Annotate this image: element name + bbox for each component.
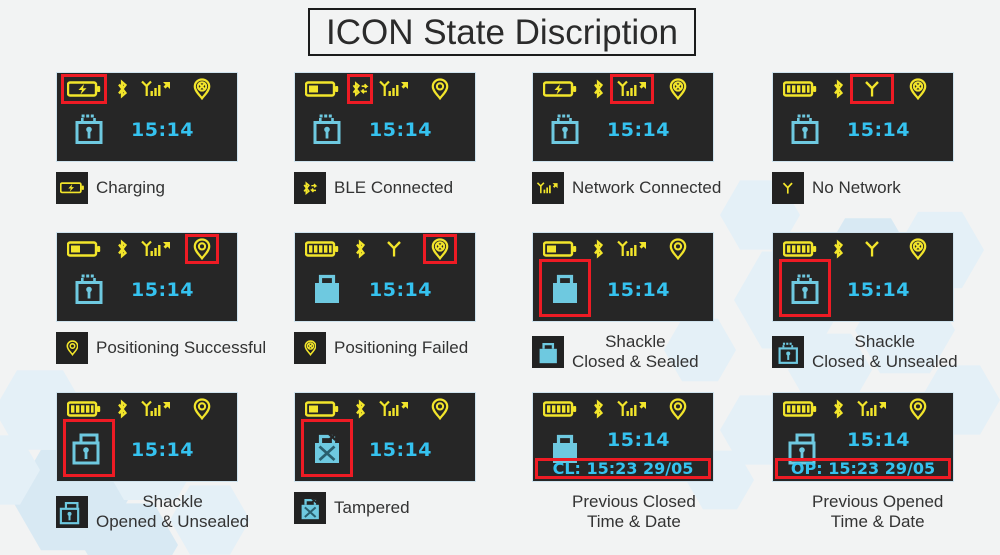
state-card-positioning-failed: 15:14 Positioning Failed: [294, 232, 544, 364]
device-screen-preview: 15:14: [56, 232, 238, 322]
battery-full-icon: [541, 398, 579, 420]
caption-row: ShackleClosed & Sealed: [532, 332, 782, 372]
location-ok-icon: [905, 398, 931, 420]
status-bar: [779, 238, 947, 260]
clock-time: 15:14: [847, 119, 910, 141]
battery-full-icon: [781, 78, 819, 100]
status-bar: [539, 238, 707, 260]
caption-row: Tampered: [294, 492, 544, 524]
signal-bars-icon: [614, 398, 650, 420]
previous-event-timestamp: CL: 15:23 29/05: [535, 458, 711, 479]
battery-full-icon: [781, 398, 819, 420]
device-screen-preview: 15:14: [294, 72, 476, 162]
signal-bars-icon: [614, 78, 650, 100]
legend-signal-bars-icon: [532, 172, 564, 204]
caption-label: Positioning Successful: [96, 338, 266, 358]
location-ok-icon: [189, 398, 215, 420]
status-bar: [539, 398, 707, 420]
signal-bars-icon: [376, 398, 412, 420]
clock-time: 15:14: [607, 279, 670, 301]
device-screen-preview: 15:14: [294, 232, 476, 322]
state-card-previous-opened: 15:14OP: 15:23 29/05Previous OpenedTime …: [772, 392, 1000, 532]
clock-time: 15:14: [369, 439, 432, 461]
device-screen-preview: 15:14OP: 15:23 29/05: [772, 392, 954, 482]
state-card-no-network: 15:14 No Network: [772, 72, 1000, 204]
legend-battery-charging-icon: [56, 172, 88, 204]
caption-row: Previous ClosedTime & Date: [532, 492, 782, 532]
slide-root: ICON State Discription: [0, 0, 1000, 555]
device-screen-preview: 15:14: [294, 392, 476, 482]
battery-empty-icon: [65, 238, 103, 260]
legend-antenna-only-icon: [772, 172, 804, 204]
bluetooth-icon: [113, 78, 131, 100]
device-screen-preview: 15:14: [772, 72, 954, 162]
caption-row: No Network: [772, 172, 1000, 204]
caption-label: ShackleClosed & Unsealed: [812, 332, 958, 372]
lock-closed-unsealed-icon: [305, 103, 349, 153]
legend-location-ok-icon: [56, 332, 88, 364]
state-card-shackle-closed-unsealed: 15:14 ShackleClosed & Unsealed: [772, 232, 1000, 372]
status-bar: [301, 398, 469, 420]
icon-state-grid: 15:14 Charging: [0, 64, 1000, 554]
legend-lock-opened-unsealed-icon: [56, 496, 88, 528]
signal-bars-icon: [614, 238, 650, 260]
clock-time: 15:14: [847, 429, 910, 451]
clock-time: 15:14: [847, 279, 910, 301]
caption-label: BLE Connected: [334, 178, 453, 198]
status-bar: [63, 78, 231, 100]
location-ok-icon: [427, 78, 453, 100]
legend-bluetooth-connected-icon: [294, 172, 326, 204]
battery-empty-icon: [541, 238, 579, 260]
state-card-shackle-opened-unsealed: 15:14 ShackleOpened & Unsealed: [56, 392, 306, 532]
caption-row: BLE Connected: [294, 172, 544, 204]
device-screen-preview: 15:14: [56, 72, 238, 162]
battery-empty-icon: [303, 398, 341, 420]
legend-location-failed-icon: [294, 332, 326, 364]
status-bar: [779, 78, 947, 100]
caption-label: Previous ClosedTime & Date: [572, 492, 696, 532]
bluetooth-icon: [589, 78, 607, 100]
location-failed-icon: [427, 238, 453, 260]
state-card-previous-closed: 15:14CL: 15:23 29/05Previous ClosedTime …: [532, 392, 782, 532]
battery-empty-icon: [303, 78, 341, 100]
clock-time: 15:14: [131, 279, 194, 301]
location-ok-icon: [665, 238, 691, 260]
battery-full-icon: [781, 238, 819, 260]
status-bar: [63, 238, 231, 260]
signal-bars-icon: [376, 78, 412, 100]
status-bar: [779, 398, 947, 420]
caption-label: Positioning Failed: [334, 338, 468, 358]
caption-row: Network Connected: [532, 172, 782, 204]
lock-closed-sealed-icon: [305, 263, 349, 313]
legend-lock-closed-sealed-icon: [532, 336, 564, 368]
location-failed-icon: [189, 78, 215, 100]
legend-lock-tampered-icon: [294, 492, 326, 524]
caption-label: ShackleClosed & Sealed: [572, 332, 699, 372]
location-ok-icon: [665, 398, 691, 420]
device-screen-preview: 15:14: [532, 72, 714, 162]
bluetooth-icon: [113, 398, 131, 420]
device-screen-preview: 15:14CL: 15:23 29/05: [532, 392, 714, 482]
caption-label: Network Connected: [572, 178, 721, 198]
clock-time: 15:14: [369, 279, 432, 301]
lock-closed-sealed-icon: [543, 263, 587, 313]
caption-row: Positioning Failed: [294, 332, 544, 364]
legend-none: [532, 496, 564, 528]
state-card-shackle-closed-sealed: 15:14 ShackleClosed & Sealed: [532, 232, 782, 372]
page-title: ICON State Discription: [326, 15, 678, 50]
status-bar: [539, 78, 707, 100]
battery-charging-icon: [541, 78, 579, 100]
clock-time: 15:14: [369, 119, 432, 141]
location-failed-icon: [905, 238, 931, 260]
clock-time: 15:14: [607, 429, 670, 451]
clock-time: 15:14: [131, 439, 194, 461]
caption-label: Charging: [96, 178, 165, 198]
caption-row: Previous OpenedTime & Date: [772, 492, 1000, 532]
status-bar: [301, 78, 469, 100]
clock-time: 15:14: [131, 119, 194, 141]
clock-time: 15:14: [607, 119, 670, 141]
lock-closed-unsealed-icon: [67, 103, 111, 153]
bluetooth-icon: [829, 238, 847, 260]
legend-lock-closed-unsealed-icon: [772, 336, 804, 368]
state-card-charging: 15:14 Charging: [56, 72, 306, 204]
lock-closed-unsealed-icon: [67, 263, 111, 313]
lock-opened-unsealed-icon: [67, 423, 111, 473]
status-bar: [301, 238, 469, 260]
signal-bars-icon: [854, 398, 890, 420]
location-failed-icon: [905, 78, 931, 100]
antenna-only-icon: [854, 78, 890, 100]
caption-row: Charging: [56, 172, 306, 204]
antenna-only-icon: [854, 238, 890, 260]
bluetooth-icon: [113, 238, 131, 260]
location-ok-icon: [427, 398, 453, 420]
state-card-network-connected: 15:14 Network Connected: [532, 72, 782, 204]
previous-event-timestamp: OP: 15:23 29/05: [775, 458, 951, 479]
device-screen-preview: 15:14: [56, 392, 238, 482]
battery-full-icon: [303, 238, 341, 260]
caption-row: ShackleOpened & Unsealed: [56, 492, 306, 532]
caption-label: ShackleOpened & Unsealed: [96, 492, 249, 532]
bluetooth-icon: [351, 238, 369, 260]
location-failed-icon: [665, 78, 691, 100]
caption-label: Tampered: [334, 498, 410, 518]
caption-label: No Network: [812, 178, 901, 198]
battery-full-icon: [65, 398, 103, 420]
bluetooth-icon: [589, 238, 607, 260]
state-card-positioning-successful: 15:14 Positioning Successful: [56, 232, 306, 364]
bluetooth-icon: [589, 398, 607, 420]
legend-none: [772, 496, 804, 528]
lock-closed-unsealed-icon: [783, 103, 827, 153]
device-screen-preview: 15:14: [772, 232, 954, 322]
bluetooth-icon: [829, 78, 847, 100]
device-screen-preview: 15:14: [532, 232, 714, 322]
antenna-only-icon: [376, 238, 412, 260]
lock-tampered-icon: [305, 423, 349, 473]
state-card-ble-connected: 15:14 BLE Connected: [294, 72, 544, 204]
state-card-tampered: 15:14 Tampered: [294, 392, 544, 524]
caption-label: Previous OpenedTime & Date: [812, 492, 943, 532]
caption-row: ShackleClosed & Unsealed: [772, 332, 1000, 372]
battery-charging-icon: [65, 78, 103, 100]
location-ok-icon: [189, 238, 215, 260]
signal-bars-icon: [138, 78, 174, 100]
signal-bars-icon: [138, 398, 174, 420]
signal-bars-icon: [138, 238, 174, 260]
bluetooth-connected-icon: [351, 78, 369, 100]
page-title-box: ICON State Discription: [308, 8, 696, 56]
bluetooth-icon: [829, 398, 847, 420]
status-bar: [63, 398, 231, 420]
lock-closed-unsealed-icon: [543, 103, 587, 153]
lock-closed-unsealed-icon: [783, 263, 827, 313]
caption-row: Positioning Successful: [56, 332, 306, 364]
bluetooth-icon: [351, 398, 369, 420]
